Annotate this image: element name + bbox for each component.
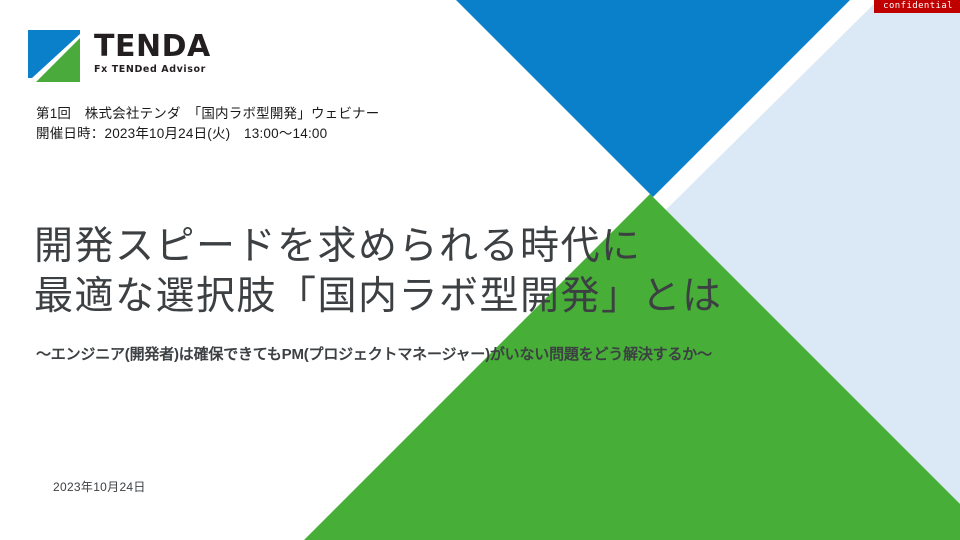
title-line-1: 開発スピードを求められる時代に: [34, 222, 723, 272]
title-line-2: 最適な選択肢「国内ラボ型開発」とは: [34, 272, 723, 322]
logo: TENDA Fx TENDed Advisor: [28, 30, 211, 82]
header-meta: 第1回 株式会社テンダ 「国内ラボ型開発」ウェビナー 開催日時：2023年10月…: [36, 104, 379, 144]
tenda-square-logo-icon: [28, 30, 80, 82]
logo-tagline: Fx TENDed Advisor: [94, 64, 211, 76]
webinar-datetime-line: 開催日時：2023年10月24日(火) 13:00〜14:00: [36, 124, 379, 144]
logo-text: TENDA Fx TENDed Advisor: [94, 31, 211, 76]
presentation-slide: confidential TENDA Fx TENDed Advisor 第1回…: [0, 0, 960, 540]
logo-wordmark: TENDA: [94, 31, 211, 63]
footer-date: 2023年10月24日: [53, 479, 146, 495]
status-badge: confidential: [874, 0, 960, 13]
webinar-series-line: 第1回 株式会社テンダ 「国内ラボ型開発」ウェビナー: [36, 104, 379, 124]
page-title: 開発スピードを求められる時代に 最適な選択肢「国内ラボ型開発」とは: [34, 222, 723, 322]
subtitle: 〜エンジニア(開発者)は確保できてもPM(プロジェクトマネージャー)がいない問題…: [36, 344, 712, 366]
